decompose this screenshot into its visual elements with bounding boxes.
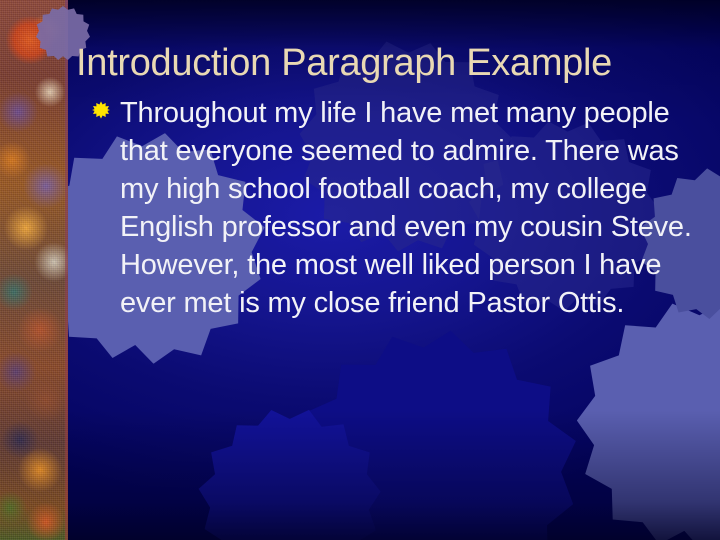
sun-burst-bullet-icon xyxy=(92,101,110,119)
left-textured-border xyxy=(0,0,68,540)
border-noise-texture xyxy=(0,0,68,540)
presentation-slide: Introduction Paragraph Example Throughou… xyxy=(0,0,720,540)
bullet-item: Throughout my life I have met many peopl… xyxy=(92,94,692,322)
slide-title: Introduction Paragraph Example xyxy=(76,41,720,85)
slide-body: Throughout my life I have met many peopl… xyxy=(92,94,692,322)
border-edge-line xyxy=(65,0,68,540)
bullet-item-text: Throughout my life I have met many peopl… xyxy=(120,97,692,319)
